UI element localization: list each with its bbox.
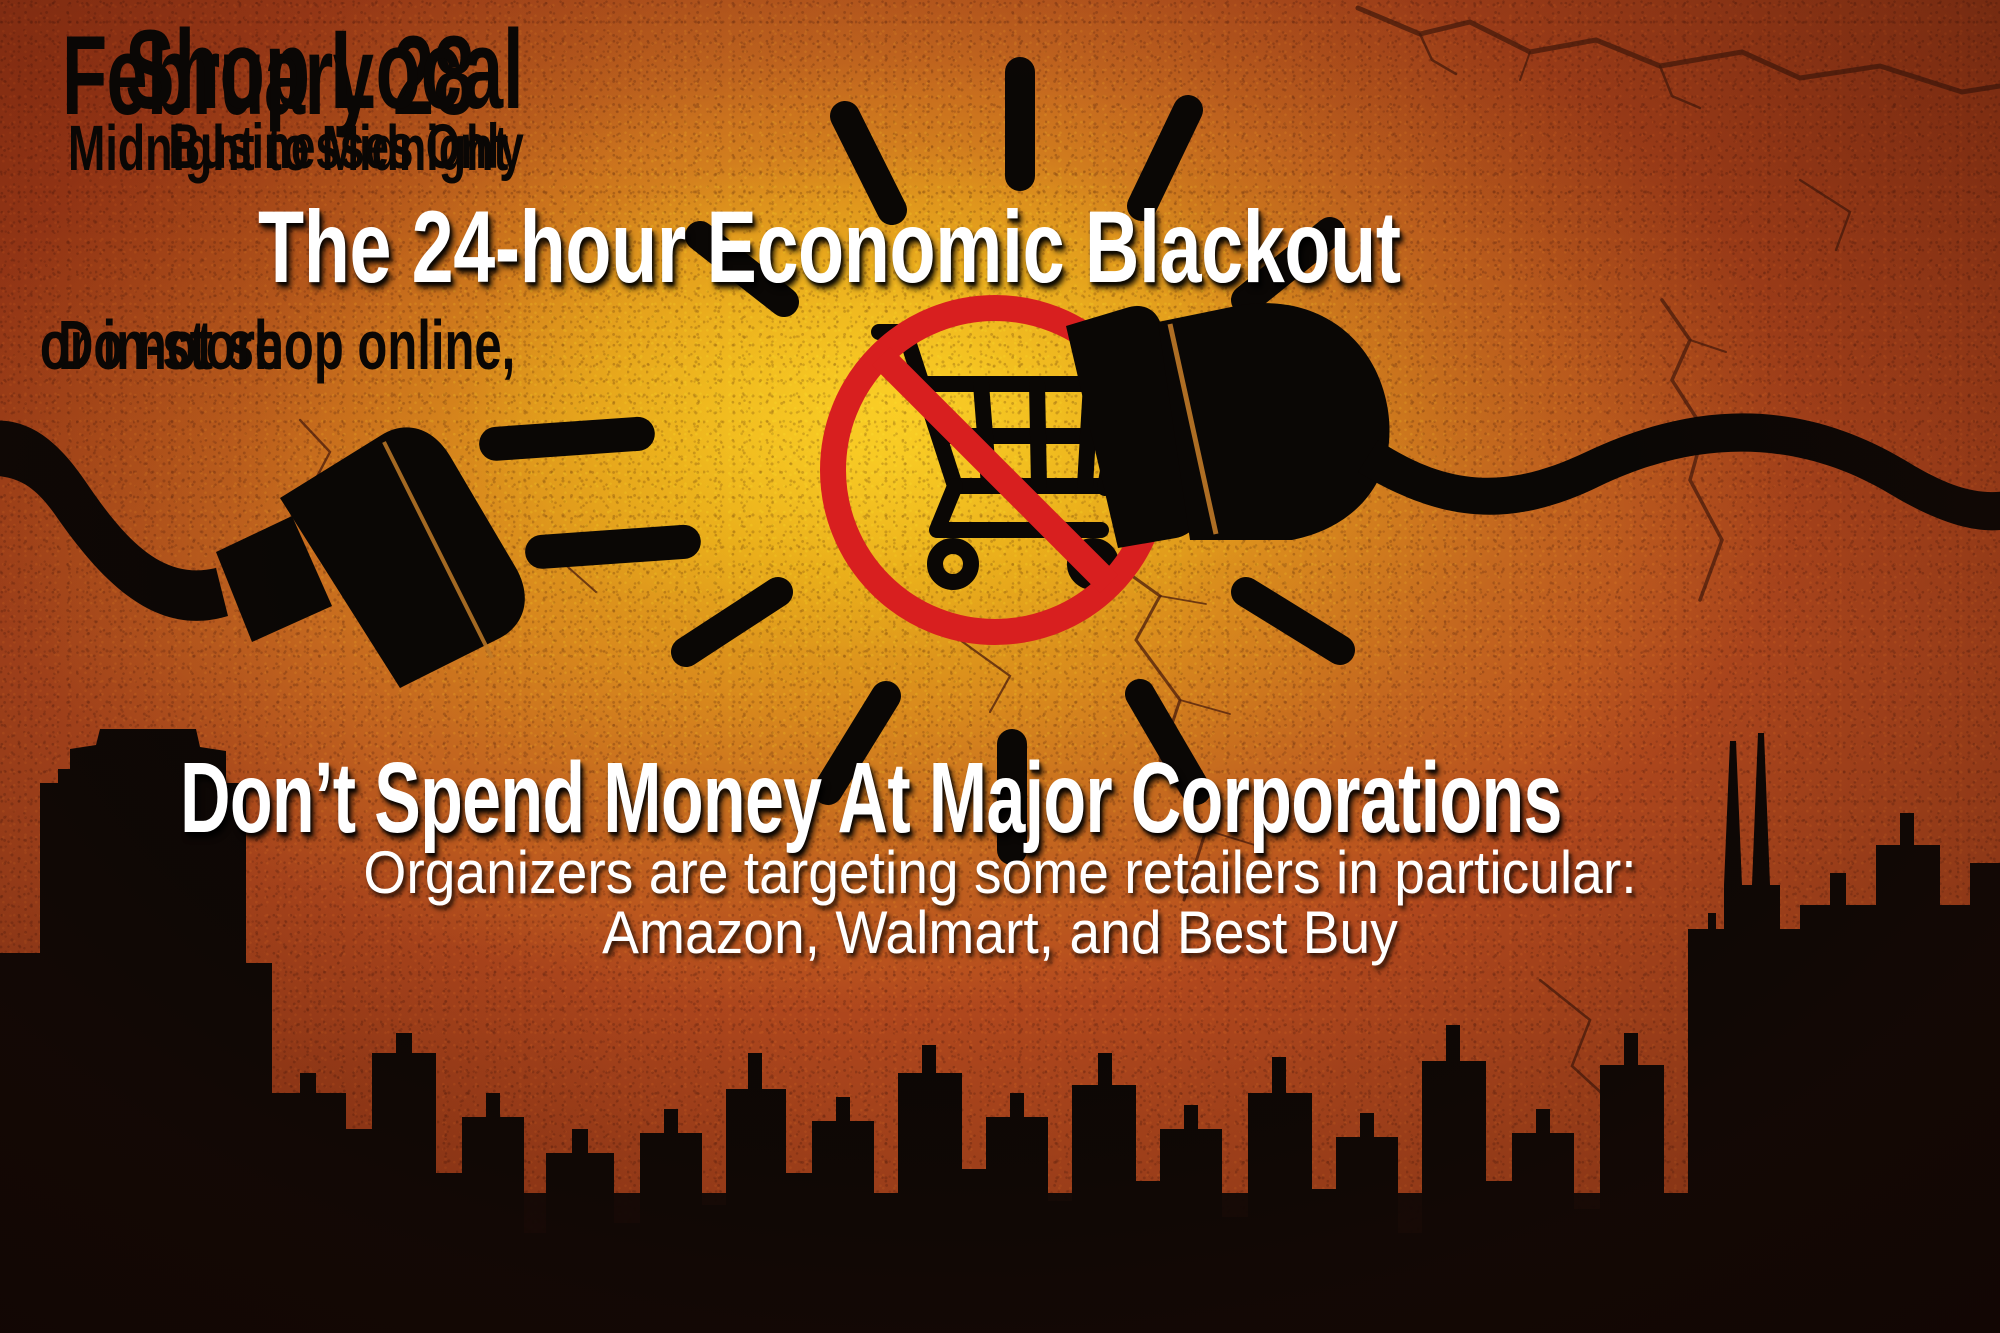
poster-title: The 24-hour Economic Blackout: [258, 196, 1401, 298]
shop-local-subheading: Businesses Only: [169, 116, 524, 179]
targeted-retailers-list: Amazon, Walmart, and Best Buy: [80, 898, 1920, 967]
instruction-instore: or in-store: [40, 310, 282, 380]
call-to-action: Don’t Spend Money At Major Corporations: [180, 748, 1562, 848]
shop-local-heading: Shop Local: [126, 14, 524, 126]
targeted-retailers-label: Organizers are targeting some retailers …: [80, 838, 1920, 907]
economic-blackout-poster: February 28 Midnight to Midnight Shop Lo…: [0, 0, 2000, 1333]
